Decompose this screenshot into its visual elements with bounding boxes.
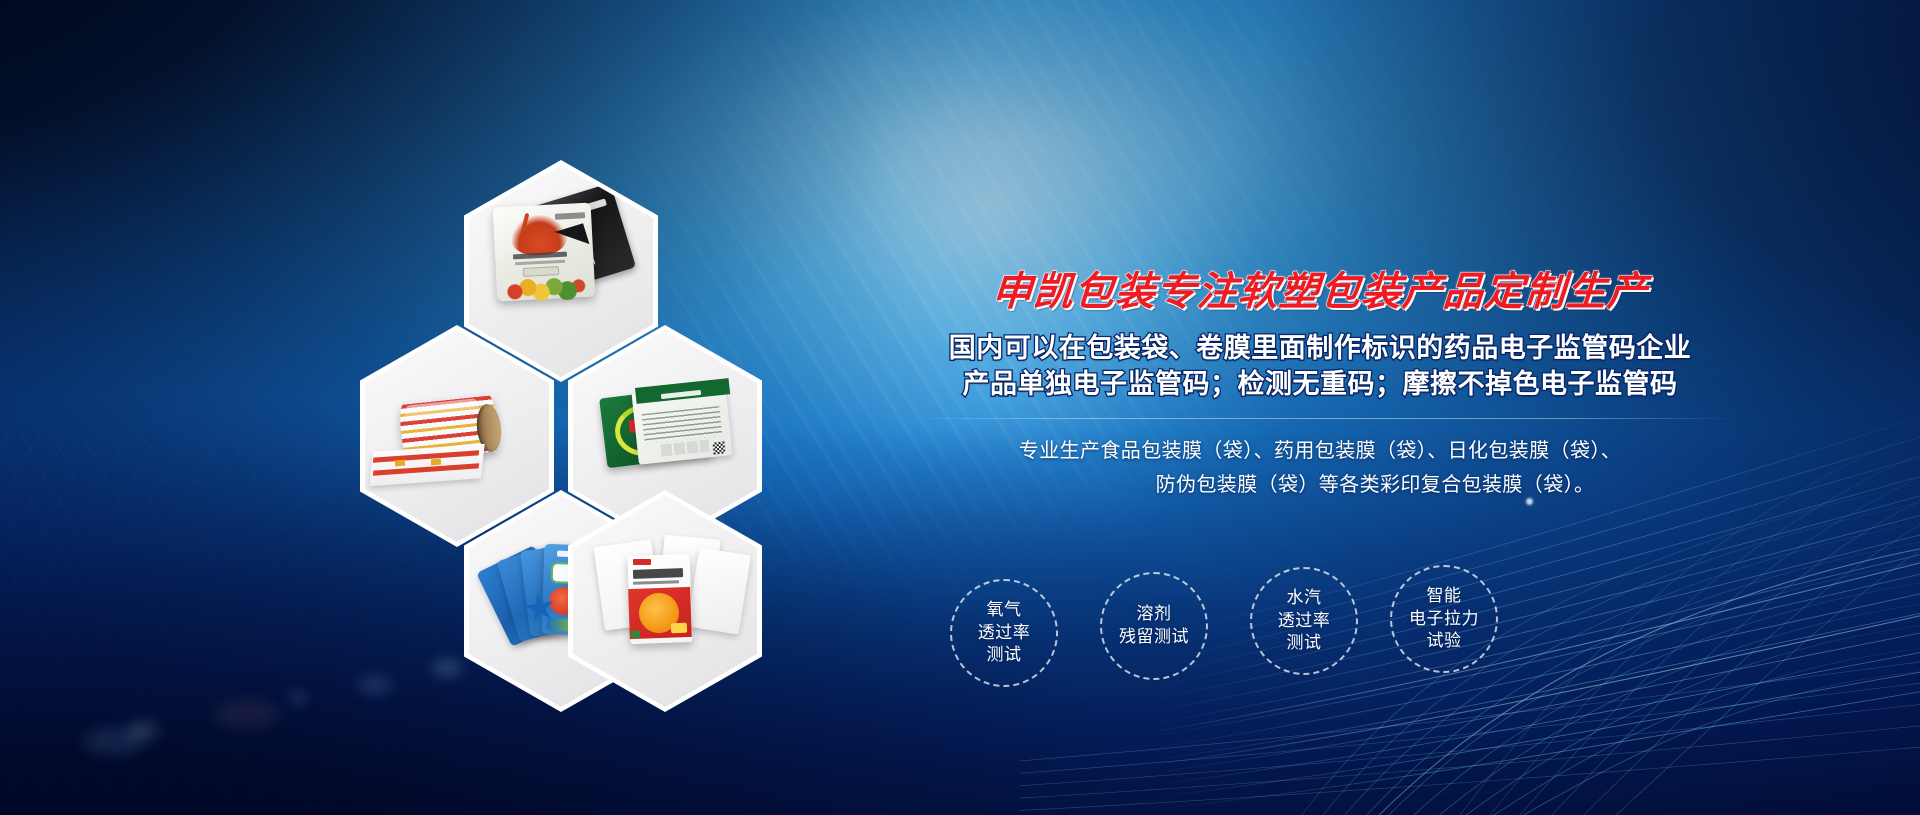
page-title: 申凯包装专注软塑包装产品定制生产 [818,270,1821,314]
product-plaster-count-badge [671,623,687,634]
badge-line: 氧气 [987,599,1022,622]
product-film-web-mark [431,459,441,466]
product-plaster-corner-mark [631,631,640,638]
hex-inner-surface [469,165,653,377]
product-green-bag-qr [712,441,725,454]
badge-line: 残留测试 [1119,626,1189,649]
body-line-2: 防伪包装膜（袋）等各类彩印复合包装膜（袋）。 [820,469,1820,503]
badge-line: 透过率 [978,622,1031,645]
badge-line: 测试 [1287,632,1322,655]
badge-line: 试验 [1427,630,1462,653]
subtitle-block: 国内可以在包装袋、卷膜里面制作标识的药品电子监管码企业 产品单独电子监管码；检测… [820,331,1820,402]
subtitle-line-1: 国内可以在包装袋、卷膜里面制作标识的药品电子监管码企业 [820,331,1820,367]
hex-inner-surface [365,330,549,542]
badge-line: 水汽 [1287,587,1322,610]
feature-badge-row: 氧气 透过率 测试 溶剂 残留测试 水汽 透过率 测试 智能 电子拉力 试验 [950,565,1520,710]
product-mask-tagbox [523,266,559,277]
badge-line: 透过率 [1278,610,1331,633]
product-plaster-title [633,568,683,579]
badge-solvent-residue[interactable]: 溶剂 残留测试 [1100,572,1208,680]
badge-line: 测试 [987,644,1022,667]
badge-oxygen-permeability[interactable]: 氧气 透过率 测试 [950,579,1058,687]
badge-line: 智能 [1427,585,1462,608]
copy-divider [905,418,1735,419]
body-copy-block: 专业生产食品包装膜（袋）、药用包装膜（袋）、日化包装膜（袋）、 防伪包装膜（袋）… [820,435,1820,502]
subtitle-line-2: 产品单独电子监管码；检测无重码；摩擦不掉色电子监管码 [820,367,1820,403]
badge-line: 电子拉力 [1409,608,1479,631]
product-mask-veggies [504,275,587,303]
product-hexagon-cluster [372,160,772,590]
promo-banner: 申凯包装专注软塑包装产品定制生产 国内可以在包装袋、卷膜里面制作标识的药品电子监… [0,0,1920,815]
banner-copy: 申凯包装专注软塑包装产品定制生产 国内可以在包装袋、卷膜里面制作标识的药品电子监… [820,270,1820,502]
badge-smart-tensile[interactable]: 智能 电子拉力 试验 [1390,565,1498,673]
badge-line: 溶剂 [1137,603,1172,626]
badge-water-vapor[interactable]: 水汽 透过率 测试 [1250,567,1358,675]
body-line-1: 专业生产食品包装膜（袋）、药用包装膜（袋）、日化包装膜（袋）、 [820,435,1820,469]
product-film-web-mark [395,460,405,467]
product-plaster-brandmark [633,559,651,565]
product-mask-pepper-graphic [510,214,568,257]
product-plaster-sachet [687,547,751,634]
